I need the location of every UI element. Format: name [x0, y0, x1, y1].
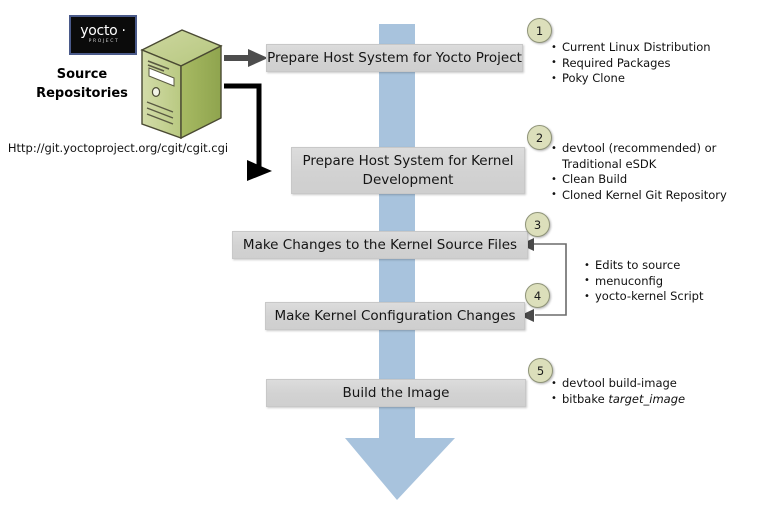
step-badge-2-number: 2 — [536, 131, 543, 145]
list-item: yocto-kernel Script — [583, 289, 704, 305]
step-badge-5: 5 — [528, 358, 553, 383]
step-badge-2: 2 — [527, 125, 552, 150]
list-item: Required Packages — [550, 56, 711, 72]
process-box-step-3[interactable]: Make Changes to the Kernel Source Files — [232, 231, 528, 259]
list-item: menuconfig — [583, 274, 704, 290]
process-box-step-5[interactable]: Build the Image — [266, 379, 526, 407]
logo-subtitle: PROJECT — [87, 38, 120, 46]
source-label-line1: Source — [18, 65, 146, 84]
process-box-step-2[interactable]: Prepare Host System for Kernel Developme… — [291, 147, 525, 194]
list-item: Clean Build — [550, 172, 727, 188]
list-item: Current Linux Distribution — [550, 40, 711, 56]
source-repository-url: Http://git.yoctoproject.org/cgit/cgit.cg… — [4, 141, 232, 155]
list-item: Edits to source — [583, 258, 704, 274]
workflow-diagram: yocto · PROJECT Source Repositories Http… — [0, 0, 769, 517]
list-item: Cloned Kernel Git Repository — [550, 188, 727, 204]
step-2-bullets: devtool (recommended) or Traditional eSD… — [550, 141, 727, 203]
step-badge-5-number: 5 — [537, 364, 544, 378]
list-item: Poky Clone — [550, 71, 711, 87]
yocto-project-logo: yocto · PROJECT — [69, 15, 137, 55]
list-item: devtool (recommended) or Traditional eSD… — [550, 141, 722, 172]
step-badge-1: 1 — [527, 18, 552, 43]
process-box-step-5-label: Build the Image — [343, 384, 450, 403]
step-1-bullets: Current Linux Distribution Required Pack… — [550, 40, 711, 87]
list-item: devtool build-image — [550, 376, 685, 392]
step-badge-1-number: 1 — [536, 24, 543, 38]
logo-wordmark: yocto · — [80, 24, 125, 38]
source-label-line2: Repositories — [18, 84, 146, 103]
bitbake-target-argument: target_image — [608, 392, 685, 406]
process-box-step-2-label-line1: Prepare Host System for Kernel — [302, 152, 513, 171]
step-badge-3-number: 3 — [534, 218, 541, 232]
process-box-step-4-label: Make Kernel Configuration Changes — [274, 307, 515, 326]
step-badge-4-number: 4 — [534, 289, 541, 303]
step-badge-3: 3 — [525, 212, 550, 237]
steps-3-4-bullets: Edits to source menuconfig yocto-kernel … — [583, 258, 704, 305]
step-badge-4: 4 — [525, 283, 550, 308]
process-box-step-1-label: Prepare Host System for Yocto Project — [267, 49, 522, 68]
bitbake-command-prefix: bitbake — [562, 392, 608, 406]
step-5-bullets: devtool build-image bitbake target_image — [550, 376, 685, 407]
process-box-step-3-label: Make Changes to the Kernel Source Files — [243, 236, 517, 255]
process-box-step-1[interactable]: Prepare Host System for Yocto Project — [266, 44, 523, 72]
source-repositories-label: Source Repositories — [18, 65, 146, 103]
process-box-step-2-label-line2: Development — [363, 171, 454, 190]
list-item: bitbake target_image — [550, 392, 685, 408]
server-tower-icon — [136, 28, 226, 140]
process-box-step-4[interactable]: Make Kernel Configuration Changes — [265, 302, 525, 330]
